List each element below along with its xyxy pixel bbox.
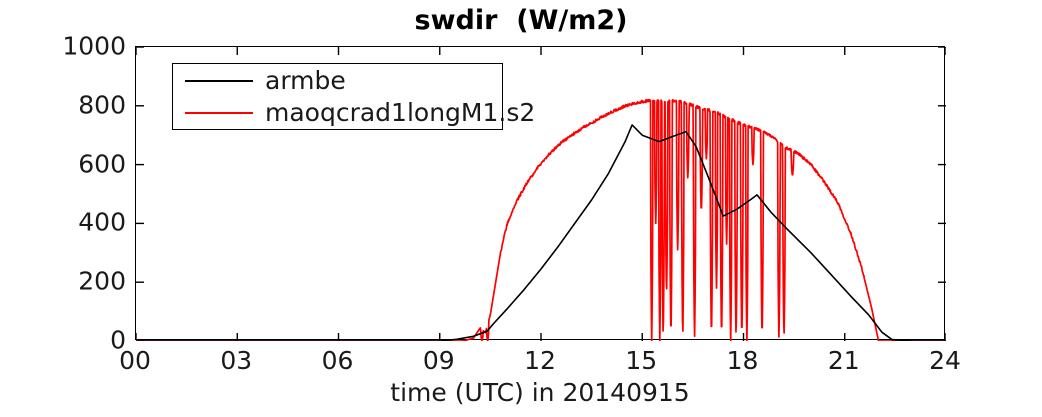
x-tick-label-15: 15	[625, 346, 657, 375]
legend-label-armbe: armbe	[265, 68, 346, 93]
y-tick-label-200: 200	[8, 267, 126, 296]
x-tick-label-03: 03	[220, 346, 252, 375]
x-tick-label-06: 06	[322, 346, 354, 375]
legend: armbe maoqcrad1longM1.s2	[172, 63, 503, 130]
y-tick-label-600: 600	[8, 149, 126, 178]
x-tick-label-09: 09	[423, 346, 455, 375]
x-tick-label-24: 24	[929, 346, 961, 375]
legend-entry-armbe: armbe	[173, 64, 502, 97]
x-tick-label-18: 18	[727, 346, 759, 375]
y-tick-label-800: 800	[8, 90, 126, 119]
y-tick-label-400: 400	[8, 208, 126, 237]
legend-entry-maoqcrad1longm1-s2: maoqcrad1longM1.s2	[173, 96, 502, 129]
x-tick-label-00: 00	[119, 346, 151, 375]
series-line-maoqcrad1longM1-s2	[136, 100, 946, 341]
y-tick-label-0: 0	[8, 326, 126, 355]
legend-swatch-maoqcrad1longm1-s2	[185, 112, 253, 114]
page-title: swdir (W/m2)	[0, 5, 1042, 36]
series-line-armbe	[136, 125, 946, 341]
x-tick-label-12: 12	[524, 346, 556, 375]
x-axis-label: time (UTC) in 20140915	[135, 378, 945, 407]
figure-canvas: swdir (W/m2) 02004006008001000 000306091…	[0, 0, 1042, 417]
x-tick-label-21: 21	[828, 346, 860, 375]
legend-label-maoqcrad1longm1-s2: maoqcrad1longM1.s2	[265, 100, 535, 125]
legend-swatch-armbe	[185, 80, 253, 82]
